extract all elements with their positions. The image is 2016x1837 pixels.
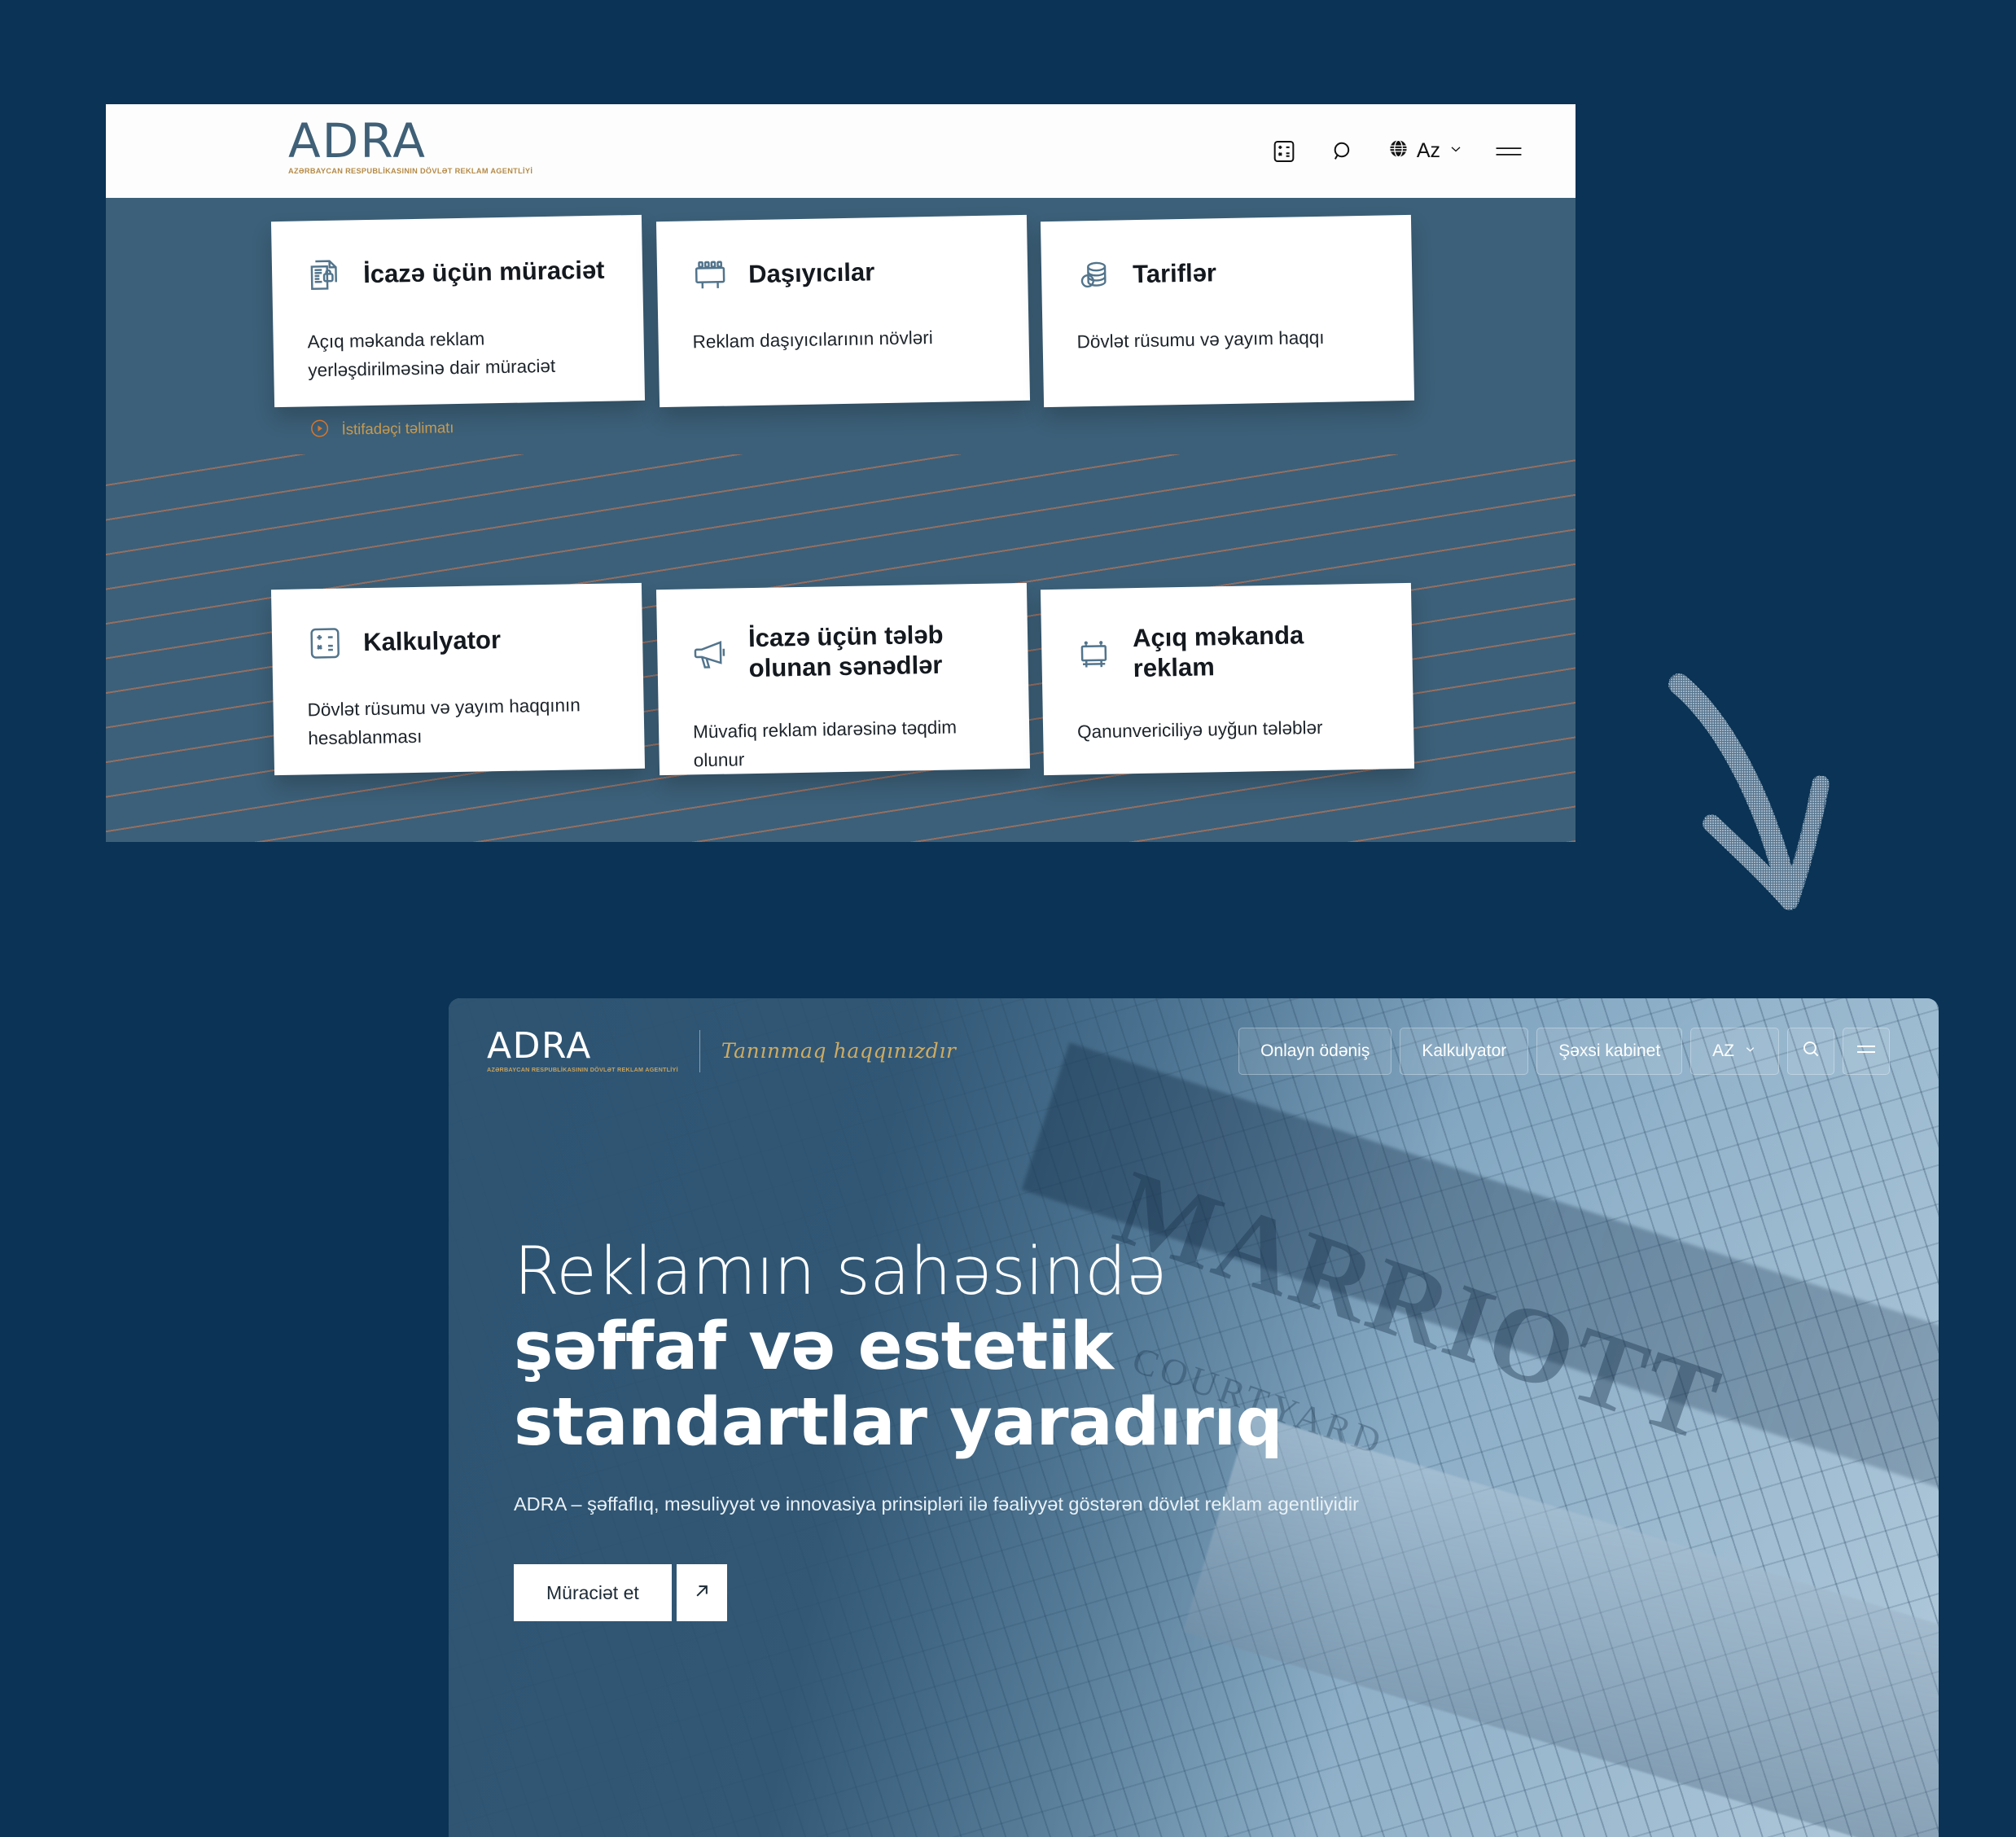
billboard-icon (691, 256, 730, 295)
adra-logo-bottom[interactable]: ADRA AZƏRBAYCAN RESPUBLİKASININ DÖVLƏT R… (487, 1029, 956, 1074)
card-link[interactable]: İstifadəçi təlimatı (309, 412, 611, 443)
card-header: Açıq məkanda reklam (1076, 620, 1378, 685)
card-title: Daşıyıcılar (748, 257, 875, 289)
search-icon[interactable] (1329, 138, 1356, 165)
top-header-actions: Az (1270, 138, 1523, 165)
screenshot-root: ADRA AZƏRBAYCAN RESPUBLİKASININ DÖVLƏT R… (0, 0, 2016, 1837)
hero-subtitle: ADRA – şəffaflıq, məsuliyyət və innovasi… (514, 1489, 1359, 1519)
coins-icon (1076, 256, 1114, 295)
logo-divider (699, 1030, 700, 1072)
language-label-top: Az (1417, 139, 1440, 163)
card-header: Tariflər (1076, 252, 1378, 295)
card-title: Açıq məkanda reklam (1133, 620, 1378, 684)
card-link-label: İstifadəçi təlimatı (341, 419, 454, 439)
chevron-down-icon (1743, 1041, 1757, 1061)
feature-card[interactable]: Açıq məkanda reklam Qanunvericiliyə uyğu… (1041, 583, 1414, 775)
arrow-up-right-icon (690, 1580, 713, 1607)
feature-card[interactable]: Daşıyıcılar Reklam daşıyıcılarının növlə… (656, 215, 1030, 407)
calculator-icon (306, 625, 344, 663)
nav-personal-cabinet[interactable]: Şəxsi kabinet (1536, 1028, 1682, 1075)
bottom-panel-screenshot: MARRIOTT COURTYARD ADRA AZƏRBAYCAN RESPU… (449, 998, 1939, 1837)
card-description: Dövlət rüsumu və yayım haqqının hesablan… (307, 691, 610, 754)
hero-cta-group: Müraciət et (514, 1564, 1359, 1621)
card-title: İcazə üçün müraciət (363, 255, 605, 289)
card-description: Açıq məkanda reklam yerləşdirilməsinə da… (307, 323, 610, 386)
card-header: Kalkulyator (306, 620, 609, 663)
calculator-icon[interactable] (1270, 138, 1298, 165)
logo-subtitle: AZƏRBAYCAN RESPUBLİKASININ DÖVLƏT REKLAM… (288, 167, 532, 175)
feature-card[interactable]: Tariflər Dövlət rüsumu və yayım haqqı (1041, 215, 1414, 407)
card-title: İcazə üçün tələb olunan sənədlər (748, 620, 994, 684)
nav-label: Kalkulyator (1422, 1041, 1506, 1061)
stippled-curved-arrow-icon (1661, 664, 1905, 945)
apply-button-label: Müraciət et (546, 1582, 639, 1604)
apply-button[interactable]: Müraciət et (514, 1564, 672, 1621)
hero-headline-line2: şəffaf və estetik (514, 1309, 1359, 1384)
document-lock-icon (306, 256, 344, 295)
logo-tagline: Tanınmaq haqqınızdır (721, 1039, 957, 1063)
card-title: Kalkulyator (363, 625, 501, 658)
hero-copy-block: Reklamın sahəsində şəffaf və estetik sta… (514, 1234, 1359, 1621)
feature-card[interactable]: İcazə üçün tələb olunan sənədlər Müvafiq… (656, 583, 1030, 775)
card-header: Daşıyıcılar (691, 252, 994, 295)
hamburger-menu-icon[interactable] (1495, 138, 1523, 165)
nav-label: Onlayn ödəniş (1260, 1041, 1370, 1061)
bottom-nav: Onlayn ödəniş Kalkulyator Şəxsi kabinet … (1238, 1028, 1890, 1075)
search-button-bottom[interactable] (1787, 1028, 1834, 1075)
language-selector-bottom[interactable]: AZ (1690, 1028, 1779, 1075)
hamburger-menu-button-bottom[interactable] (1843, 1028, 1890, 1075)
megaphone-icon (691, 635, 730, 673)
search-icon (1800, 1038, 1821, 1064)
play-circle-icon (309, 418, 331, 443)
outdoor-board-icon (1076, 635, 1114, 673)
card-description: Müvafiq reklam idarəsinə təqdim olunur (693, 713, 996, 776)
globe-icon (1387, 138, 1409, 165)
top-panel-screenshot: ADRA AZƏRBAYCAN RESPUBLİKASININ DÖVLƏT R… (106, 104, 1576, 842)
nav-label: Şəxsi kabinet (1558, 1041, 1660, 1061)
logo-subtitle: AZƏRBAYCAN RESPUBLİKASININ DÖVLƏT REKLAM… (487, 1066, 678, 1073)
card-description: Dövlət rüsumu və yayım haqqı (1076, 323, 1379, 357)
language-label-bottom: AZ (1712, 1041, 1734, 1061)
top-site-header: ADRA AZƏRBAYCAN RESPUBLİKASININ DÖVLƏT R… (106, 104, 1576, 198)
card-title: Tariflər (1133, 258, 1216, 289)
nav-online-payment[interactable]: Onlayn ödəniş (1238, 1028, 1391, 1075)
logo-wordmark: ADRA (288, 119, 532, 164)
hero-headline-line3: standartlar yaradırıq (514, 1385, 1359, 1460)
card-header: İcazə üçün müraciət (306, 252, 609, 295)
hamburger-menu-icon (1855, 1040, 1878, 1063)
apply-button-arrow[interactable] (677, 1564, 727, 1621)
nav-calculator[interactable]: Kalkulyator (1400, 1028, 1528, 1075)
card-description: Reklam daşıyıcılarının növləri (692, 323, 995, 357)
chevron-down-icon (1448, 139, 1464, 163)
feature-card[interactable]: İcazə üçün müraciət Açıq məkanda reklam … (271, 215, 645, 407)
hero-headline-line1: Reklamın sahəsində (514, 1234, 1359, 1309)
language-selector-top[interactable]: Az (1387, 138, 1464, 165)
logo-wordmark: ADRA (487, 1029, 678, 1063)
bottom-site-header: ADRA AZƏRBAYCAN RESPUBLİKASININ DÖVLƏT R… (449, 998, 1939, 1104)
card-description: Qanunvericiliyə uyğun tələblər (1077, 713, 1380, 748)
card-header: İcazə üçün tələb olunan sənədlər (691, 620, 994, 685)
adra-logo-top[interactable]: ADRA AZƏRBAYCAN RESPUBLİKASININ DÖVLƏT R… (288, 119, 532, 175)
feature-card[interactable]: Kalkulyator Dövlət rüsumu və yayım haqqı… (271, 583, 645, 775)
